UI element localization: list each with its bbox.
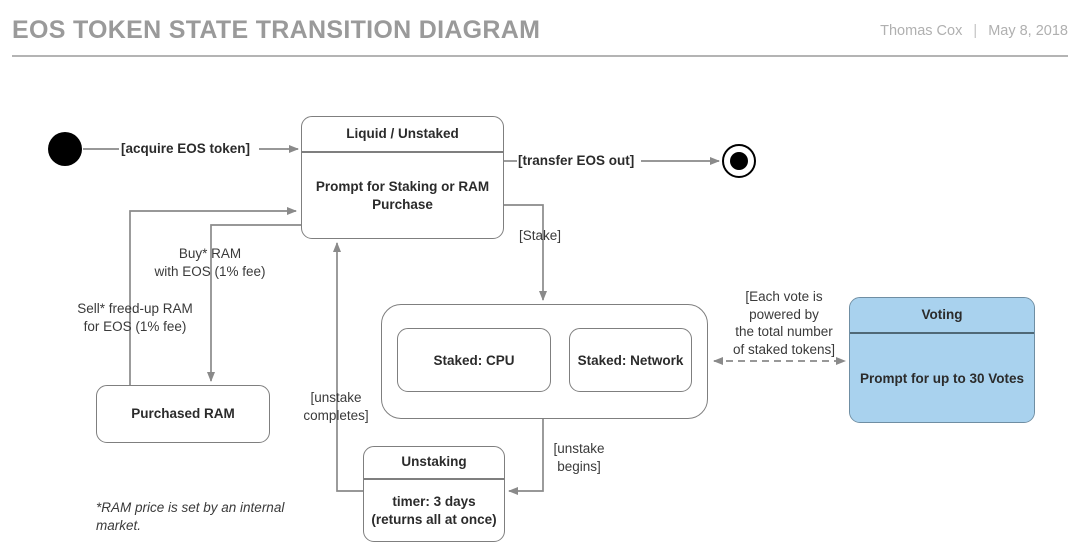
state-staked-composite[interactable]: Staked: CPU Staked: Network: [381, 304, 708, 419]
final-state-inner: [730, 152, 748, 170]
state-voting-title: Voting: [850, 298, 1034, 332]
state-liquid-unstaked[interactable]: Liquid / Unstaked Prompt for Staking or …: [301, 116, 504, 239]
state-voting[interactable]: Voting Prompt for up to 30 Votes: [849, 297, 1035, 423]
edge-unstake-completes: [337, 243, 363, 491]
diagram-page: EOS TOKEN STATE TRANSITION DIAGRAM Thoma…: [0, 0, 1080, 559]
edge-unstake-begins: [509, 419, 543, 491]
substate-staked-cpu-label: Staked: CPU: [433, 353, 514, 368]
edge-label-sell-ram: Sell* freed-up RAM for EOS (1% fee): [67, 300, 203, 335]
state-purchased-ram[interactable]: Purchased RAM: [96, 385, 270, 443]
state-unstaking[interactable]: Unstaking timer: 3 days (returns all at …: [363, 446, 505, 542]
initial-state-node[interactable]: [48, 132, 82, 166]
edge-stake: [504, 205, 543, 300]
substate-staked-network-label: Staked: Network: [578, 353, 684, 368]
state-liquid-title: Liquid / Unstaked: [302, 117, 503, 151]
final-state-node[interactable]: [722, 144, 756, 178]
footnote-ram-price: *RAM price is set by an internal market.: [96, 499, 306, 535]
state-voting-body: Prompt for up to 30 Votes: [850, 334, 1034, 423]
edge-label-transfer-out: [transfer EOS out]: [518, 152, 634, 170]
state-unstaking-title: Unstaking: [364, 447, 504, 478]
substate-staked-network[interactable]: Staked: Network: [569, 328, 692, 392]
state-purchased-ram-title: Purchased RAM: [123, 406, 243, 422]
edge-label-buy-ram: Buy* RAM with EOS (1% fee): [151, 245, 269, 280]
edge-label-vote-power: [Each vote is powered by the total numbe…: [723, 288, 845, 358]
state-liquid-body: Prompt for Staking or RAM Purchase: [302, 153, 503, 239]
edge-label-stake: [Stake]: [519, 227, 561, 245]
edge-sell-ram: [130, 211, 296, 385]
state-unstaking-body: timer: 3 days (returns all at once): [364, 480, 504, 542]
edge-label-acquire: [acquire EOS token]: [121, 140, 250, 158]
substate-staked-cpu[interactable]: Staked: CPU: [397, 328, 551, 392]
edge-label-unstake-begins: [unstake begins]: [543, 440, 615, 475]
edge-label-unstake-completes: [unstake completes]: [297, 389, 375, 424]
